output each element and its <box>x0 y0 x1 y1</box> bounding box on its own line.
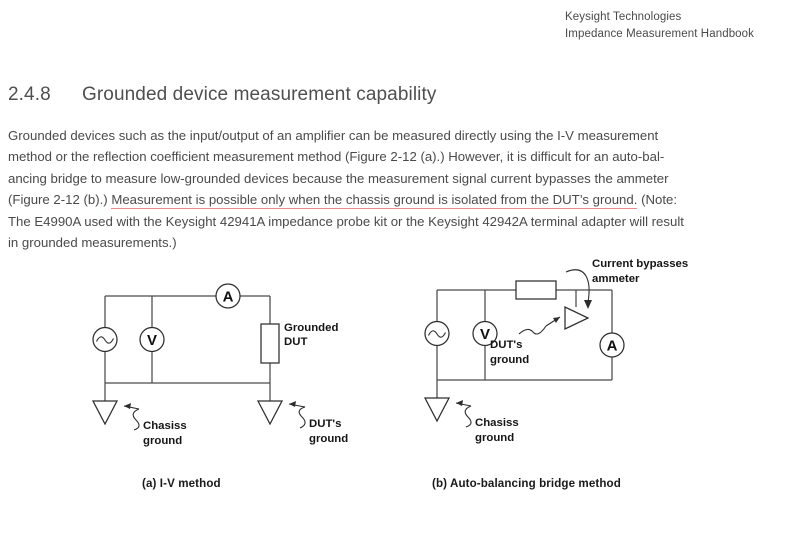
dut-ground-label-a-line1: DUT's <box>309 418 341 430</box>
section-number: 2.4.8 <box>8 84 82 106</box>
body-line-6: in grounded measurements.) <box>8 232 794 253</box>
dut-resistor-b <box>516 281 556 299</box>
dut-ground-label-a-line2: ground <box>309 433 348 445</box>
figure-caption-a: (a) I-V method <box>142 477 221 490</box>
body-line-2: method or the reflection coefficient mea… <box>8 146 794 167</box>
grounded-dut-label-line1: Grounded <box>284 322 338 334</box>
chassis-ground-symbol-a <box>93 401 117 424</box>
chassis-ground-leader-a <box>124 403 139 430</box>
ac-source-symbol-b <box>425 322 449 346</box>
ammeter-a: A <box>216 284 240 308</box>
voltmeter-a: V <box>140 328 164 352</box>
figure-2-12-svg: V A Grounded DUT Chasiss <box>0 255 800 505</box>
body-line-5: The E4990A used with the Keysight 42941A… <box>8 211 794 232</box>
circuit-a-group: V A Grounded DUT Chasiss <box>93 284 348 447</box>
body-line-4-suffix: (Note: <box>637 192 677 207</box>
voltmeter-b-label: V <box>480 326 490 343</box>
chassis-ground-label-b-line2: ground <box>475 432 514 444</box>
dut-ground-label-b-line2: ground <box>490 354 529 366</box>
chassis-ground-symbol-b <box>425 398 449 421</box>
body-line-3: ancing bridge to measure low-grounded de… <box>8 168 794 189</box>
bypass-note-line2: ammeter <box>592 273 640 285</box>
figure-caption-b: (b) Auto-balancing bridge method <box>432 477 621 490</box>
bypass-note-line1: Current bypasses <box>592 258 688 270</box>
circuit-b-group: V A DUT's ground <box>425 258 688 444</box>
ammeter-a-label: A <box>223 289 234 306</box>
highlighted-sentence: Measurement is possible only when the ch… <box>111 192 637 209</box>
header-document-title: Impedance Measurement Handbook <box>565 26 800 43</box>
ac-source-symbol-a <box>93 328 117 352</box>
dut-ground-symbol-b <box>565 307 588 329</box>
dut-ground-symbol-a <box>258 401 282 424</box>
body-line-1: Grounded devices such as the input/outpu… <box>8 125 794 146</box>
dut-ground-leader-a <box>289 401 305 428</box>
ammeter-b: A <box>600 333 624 357</box>
body-line-4: (Figure 2-12 (b).) Measurement is possib… <box>8 189 794 210</box>
header-company-name: Keysight Technologies <box>565 9 800 26</box>
grounded-dut-label-line2: DUT <box>284 336 307 348</box>
section-title: Grounded device measurement capability <box>82 84 788 106</box>
ammeter-b-label: A <box>607 338 618 355</box>
chassis-ground-label-a-line2: ground <box>143 435 182 447</box>
chassis-ground-label-b-line1: Chasiss <box>475 417 519 429</box>
dut-ground-label-b-line1: DUT's <box>490 339 522 351</box>
chassis-ground-leader-b <box>456 400 471 427</box>
chassis-ground-label-a-line1: Chasiss <box>143 420 187 432</box>
body-paragraph: Grounded devices such as the input/outpu… <box>8 125 794 253</box>
voltmeter-a-label: V <box>147 332 157 349</box>
dut-ground-leader-b <box>519 317 560 334</box>
page-title: 2.4.8 Grounded device measurement capabi… <box>8 84 788 106</box>
figure-2-12: V A Grounded DUT Chasiss <box>0 255 800 505</box>
running-header: Keysight Technologies Impedance Measurem… <box>0 9 800 43</box>
body-line-4-prefix: (Figure 2-12 (b).) <box>8 192 111 207</box>
grounded-dut-a <box>261 324 279 363</box>
